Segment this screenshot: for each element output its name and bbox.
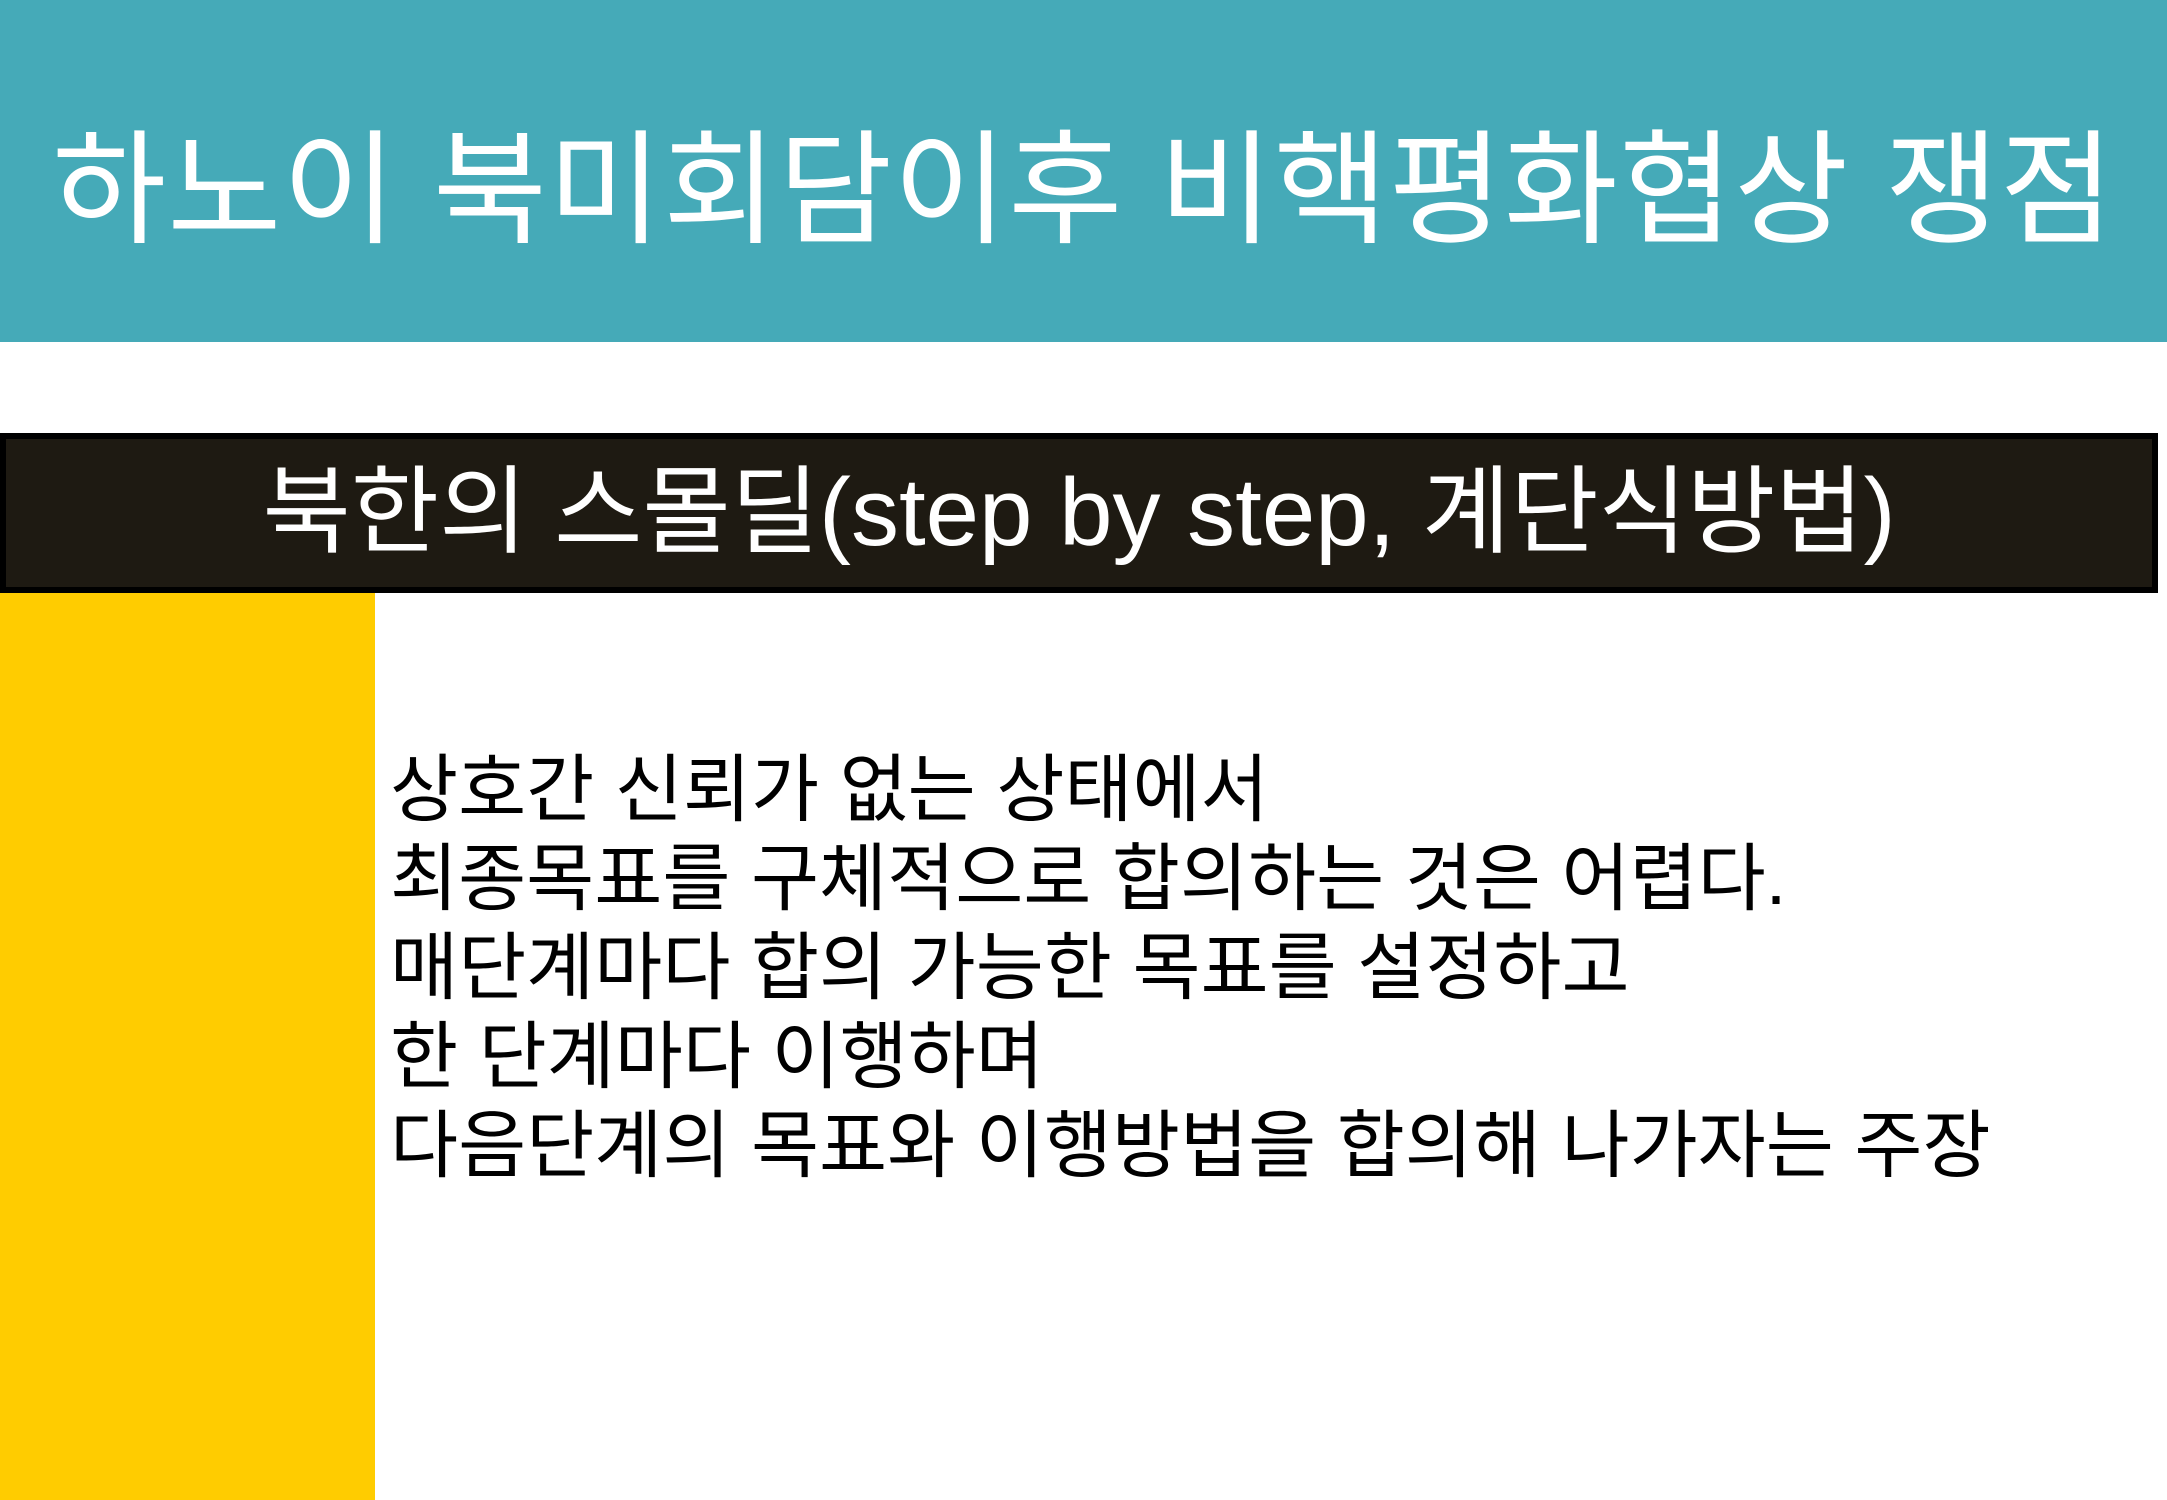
body-line: 매단계마다 합의 가능한 목표를 설정하고 xyxy=(390,923,2130,1012)
presentation-slide: 하노이 북미회담이후 비핵평화협상 쟁점 북한의 스몰딜(step by ste… xyxy=(0,0,2167,1500)
subtitle-banner: 북한의 스몰딜(step by step, 계단식방법) xyxy=(0,433,2158,593)
subtitle-heading: 북한의 스몰딜(step by step, 계단식방법) xyxy=(262,463,1895,564)
body-line: 상호간 신뢰가 없는 상태에서 xyxy=(390,745,2130,834)
body-line: 다음단계의 목표와 이행방법을 합의해 나가자는 주장 xyxy=(390,1101,2130,1190)
slide-title-band: 하노이 북미회담이후 비핵평화협상 쟁점 xyxy=(0,0,2167,342)
slide-title: 하노이 북미회담이후 비핵평화협상 쟁점 xyxy=(52,123,2115,259)
body-line: 한 단계마다 이행하며 xyxy=(390,1012,2130,1101)
body-text-block: 상호간 신뢰가 없는 상태에서 최종목표를 구체적으로 합의하는 것은 어렵다.… xyxy=(390,745,2130,1190)
body-line: 최종목표를 구체적으로 합의하는 것은 어렵다. xyxy=(390,834,2130,923)
yellow-accent-bar xyxy=(0,593,375,1500)
